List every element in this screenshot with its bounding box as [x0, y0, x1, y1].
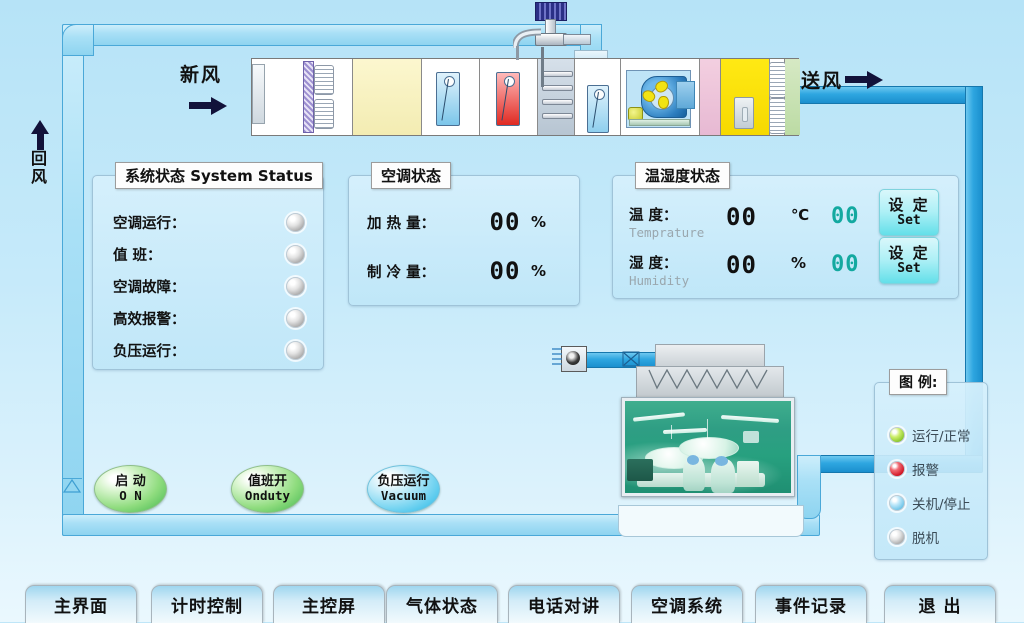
tab-label: 计时控制: [171, 592, 243, 617]
return-air-arrow-tail: [37, 134, 44, 150]
ahu-section-access: [575, 59, 621, 135]
humidity-unit: %: [791, 254, 806, 272]
operating-room-video[interactable]: [621, 397, 795, 497]
humidity-set-button-cn: 设 定: [888, 246, 929, 262]
fan-outlet: [676, 81, 695, 109]
tab-label: 空调系统: [651, 592, 723, 617]
return-air-text: 回风: [31, 149, 47, 186]
status-lamp-neg-pressure[interactable]: [286, 341, 305, 360]
valve-internal-pipe: [541, 47, 544, 87]
valve-downpipe: [516, 46, 519, 60]
status-label-ac-fault: 空调故障：: [113, 276, 186, 297]
ac-unit-cool: %: [531, 262, 546, 280]
legend-lamp-gray: [889, 529, 905, 545]
legend-lamp-blue: [889, 495, 905, 511]
duct-return-riser: [62, 24, 84, 536]
humidity-set-button-en: Set: [897, 262, 920, 276]
temperature-label: 温 度：: [629, 204, 704, 225]
ac-status-row-cool: 制 冷 量： 00 %: [367, 257, 546, 285]
valve-pipe-right: [563, 34, 591, 45]
tab-label: 气体状态: [406, 592, 478, 617]
status-lamp-ac-run[interactable]: [286, 213, 305, 232]
surgeon-cap: [687, 455, 699, 465]
legend-lamp-red: [889, 461, 905, 477]
duct-elbow-top-left: [62, 24, 94, 56]
legend-item-alarm: 报警: [889, 459, 939, 479]
tab-event-log[interactable]: 事件记录: [755, 585, 867, 623]
status-lamp-ac-fault[interactable]: [286, 277, 305, 296]
tab-label: 电话对讲: [528, 592, 600, 617]
ahu-section-filter-yellow: [721, 59, 770, 135]
humidity-sublabel: Humidity: [629, 273, 689, 288]
surgeon-cap: [715, 456, 728, 466]
supply-air-arrow-tail: [845, 76, 867, 83]
legend-lamp-green: [889, 427, 905, 443]
hepa-diffuser-base: [636, 366, 784, 398]
vacuum-button[interactable]: 负压运行 Vacuum: [367, 465, 440, 513]
cabinet: [627, 459, 653, 481]
supply-air-label: 送风: [801, 66, 843, 93]
legend-label-stopped: 关机/停止: [912, 493, 971, 513]
humidity-label: 湿 度：: [629, 252, 689, 273]
air-handling-unit: [251, 58, 799, 136]
ahu-section-fan: [621, 59, 700, 135]
return-air-arrow: [31, 120, 49, 134]
onduty-button[interactable]: 值班开 Onduty: [231, 465, 304, 513]
system-status-row: 高效报警：: [113, 308, 305, 329]
fresh-air-arrow-tail: [189, 102, 211, 109]
diffuser-zigzag-icon: [647, 369, 773, 391]
fan-hub: [650, 86, 674, 110]
wall-panel: [743, 431, 759, 443]
system-status-row: 负压运行：: [113, 340, 305, 361]
temperature-value: 00: [726, 203, 757, 231]
legend-item-running: 运行/正常: [889, 425, 971, 445]
tab-gas-status[interactable]: 气体状态: [386, 585, 498, 623]
ac-unit-heat: %: [531, 213, 546, 231]
ahu-section-final-coil: [770, 59, 785, 135]
status-label-onduty: 值 班：: [113, 244, 162, 265]
tab-main-panel[interactable]: 主控屏: [273, 585, 385, 623]
vacuum-button-en: Vacuum: [381, 489, 426, 503]
legend-title: 图 例:: [889, 369, 947, 395]
ac-status-row-heat: 加 热 量： 00 %: [367, 208, 546, 236]
tab-main-screen[interactable]: 主界面: [25, 585, 137, 623]
temperature-set-button-en: Set: [897, 214, 920, 228]
ahu-section-plenum: [700, 59, 721, 135]
temperature-setpoint: 00: [831, 204, 860, 229]
legend-item-offline: 脱机: [889, 527, 939, 547]
legend-label-alarm: 报警: [912, 459, 939, 479]
temp-humidity-panel: 温湿度状态 温 度： Temprature 00 ℃ 00 设 定 Set 湿 …: [612, 175, 959, 299]
humidity-set-button[interactable]: 设 定 Set: [879, 237, 939, 284]
legend-label-offline: 脱机: [912, 527, 939, 547]
ac-status-title: 空调状态: [371, 162, 451, 189]
ac-value-heat: 00: [479, 208, 531, 236]
fan-base: [629, 119, 690, 126]
heating-coil-gauge: [496, 72, 520, 126]
system-status-panel: 系统状态 System Status 空调运行： 值 班： 空调故障： 高效报警…: [92, 175, 324, 370]
start-button[interactable]: 启 动 O N: [94, 465, 167, 513]
tab-label: 主控屏: [302, 592, 356, 617]
legend-item-stopped: 关机/停止: [889, 493, 971, 513]
temperature-set-button-cn: 设 定: [888, 198, 929, 214]
legend-panel: 图 例: 运行/正常 报警 关机/停止 脱机: [874, 382, 988, 560]
temperature-set-button[interactable]: 设 定 Set: [879, 189, 939, 236]
start-button-cn: 启 动: [115, 475, 146, 489]
exhaust-fan-icon: [561, 346, 587, 372]
operating-room-image: [625, 401, 791, 493]
system-status-row: 值 班：: [113, 244, 305, 265]
tab-timer-control[interactable]: 计时控制: [151, 585, 263, 623]
humidity-value: 00: [726, 251, 757, 279]
hvac-scada-screen: 新风 送风 回风 系统状态 System Status 空调运行： 值 班： 空…: [0, 0, 1024, 622]
return-air-label: 回风: [31, 150, 47, 186]
vacuum-button-cn: 负压运行: [377, 475, 429, 489]
status-label-neg-pressure: 负压运行：: [113, 340, 186, 361]
temperature-row: 温 度： Temprature: [629, 204, 704, 240]
ac-label-cool: 制 冷 量：: [367, 261, 479, 282]
status-lamp-hepa-alarm[interactable]: [286, 309, 305, 328]
temperature-sublabel: Temprature: [629, 225, 704, 240]
damper-icon: [62, 478, 82, 494]
ahu-section-hepa: [785, 59, 800, 135]
temp-humidity-title: 温湿度状态: [635, 162, 730, 189]
status-lamp-onduty[interactable]: [286, 245, 305, 264]
medical-equipment: [737, 461, 759, 487]
start-button-en: O N: [119, 489, 142, 503]
tab-label: 退 出: [919, 592, 962, 617]
tab-label: 事件记录: [775, 592, 847, 617]
tab-intercom[interactable]: 电话对讲: [508, 585, 620, 623]
ahu-section-bagfilter: [353, 59, 422, 135]
ahu-section-heating-coil: [480, 59, 538, 135]
or-room-box: [618, 505, 804, 537]
fresh-air-arrow: [211, 97, 227, 115]
cooling-coil-gauge: [436, 72, 460, 126]
ahu-section-prefilter: [252, 59, 353, 135]
onduty-button-cn: 值班开: [248, 475, 287, 489]
tab-label: 主界面: [54, 592, 108, 617]
ac-value-cool: 00: [479, 257, 531, 285]
access-gauge: [587, 85, 609, 133]
supply-air-arrow: [867, 71, 883, 89]
fan-fins-icon: [551, 345, 563, 371]
status-label-hepa-alarm: 高效报警：: [113, 308, 186, 329]
ahu-section-cooling-coil: [422, 59, 480, 135]
humidity-setpoint: 00: [831, 252, 860, 277]
ahu-access-door: [734, 97, 754, 129]
tab-exit[interactable]: 退 出: [884, 585, 996, 623]
legend-label-running: 运行/正常: [912, 425, 971, 445]
ac-status-panel: 空调状态 加 热 量： 00 % 制 冷 量： 00 %: [348, 175, 580, 306]
ac-label-heat: 加 热 量：: [367, 212, 479, 233]
system-status-row: 空调故障：: [113, 276, 305, 297]
bottom-tab-bar: 主界面 计时控制 主控屏 气体状态 电话对讲 空调系统 事件记录 退 出: [0, 585, 1024, 622]
tab-ac-system[interactable]: 空调系统: [631, 585, 743, 623]
onduty-button-en: Onduty: [245, 489, 290, 503]
system-status-row: 空调运行：: [113, 212, 305, 233]
humidity-row: 湿 度： Humidity: [629, 252, 689, 288]
system-status-title: 系统状态 System Status: [115, 162, 323, 189]
fresh-air-label: 新风: [180, 60, 222, 87]
duct-joint-icon: [622, 351, 640, 367]
status-label-ac-run: 空调运行：: [113, 212, 186, 233]
temperature-unit: ℃: [791, 206, 809, 224]
